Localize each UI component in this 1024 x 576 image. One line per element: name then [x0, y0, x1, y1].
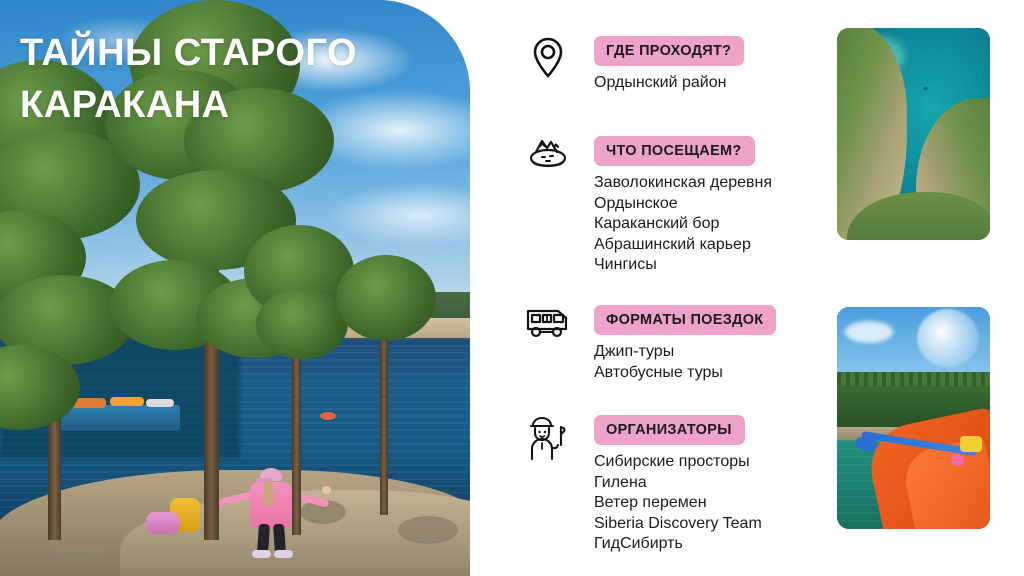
list-item: Караканский бор	[594, 214, 818, 235]
section-where-list: Ордынский район	[594, 73, 818, 94]
badge-what-to-visit: ЧТО ПОСЕЩАЕМ?	[594, 136, 755, 166]
list-item: Джип-туры	[594, 342, 818, 363]
tour-guide-icon	[520, 415, 576, 467]
bus-icon	[520, 305, 576, 357]
list-item: Ветер перемен	[594, 493, 818, 514]
list-item: Автобусные туры	[594, 363, 818, 384]
lake-mountains-icon	[520, 136, 576, 188]
hero-photo: ТАЙНЫ СТАРОГО КАРАКАНА	[0, 0, 470, 576]
list-item: Ордынский район	[594, 73, 818, 94]
title-line-1: ТАЙНЫ СТАРОГО	[20, 27, 420, 79]
list-item: Абрашинский карьер	[594, 235, 818, 256]
section-where-body: ГДЕ ПРОХОДЯТ? Ордынский район	[594, 36, 818, 94]
badge-organizers: ОРГАНИЗАТОРЫ	[594, 415, 745, 445]
list-item: Заволокинская деревня	[594, 173, 818, 194]
badge-trip-formats: ФОРМАТЫ ПОЕЗДОК	[594, 305, 776, 335]
info-column: ГДЕ ПРОХОДЯТ? Ордынский район ЧТО ПО	[498, 0, 818, 576]
badge-where: ГДЕ ПРОХОДЯТ?	[594, 36, 744, 66]
rock	[398, 516, 458, 544]
section-what-to-visit-body: ЧТО ПОСЕЩАЕМ? Заволокинская деревня Орды…	[594, 136, 818, 276]
rock	[52, 540, 106, 560]
list-item: Ордынское	[594, 194, 818, 215]
photo-aerial-lake	[837, 28, 990, 240]
list-item: Чингисы	[594, 255, 818, 276]
section-trip-formats-list: Джип-туры Автобусные туры	[594, 342, 818, 383]
map-pin-icon	[520, 36, 576, 88]
section-what-to-visit-list: Заволокинская деревня Ордынское Караканс…	[594, 173, 818, 276]
section-organizers-body: ОРГАНИЗАТОРЫ Сибирские просторы Гилена В…	[594, 415, 818, 555]
list-item: Гилена	[594, 473, 818, 494]
pine-tree	[336, 255, 446, 505]
section-trip-formats-body: ФОРМАТЫ ПОЕЗДОК Джип-туры Автобусные тур…	[594, 305, 818, 383]
list-item: Siberia Discovery Team	[594, 514, 818, 535]
page-title: ТАЙНЫ СТАРОГО КАРАКАНА	[20, 27, 420, 131]
list-item: Сибирские просторы	[594, 452, 818, 473]
section-organizers-list: Сибирские просторы Гилена Ветер перемен …	[594, 452, 818, 555]
slide-canvas: ТАЙНЫ СТАРОГО КАРАКАНА ГДЕ ПРОХОДЯТ? Орд…	[0, 0, 1024, 576]
list-item: ГидСибирть	[594, 534, 818, 555]
title-line-2: КАРАКАНА	[20, 79, 420, 131]
photo-kayak	[837, 307, 990, 529]
